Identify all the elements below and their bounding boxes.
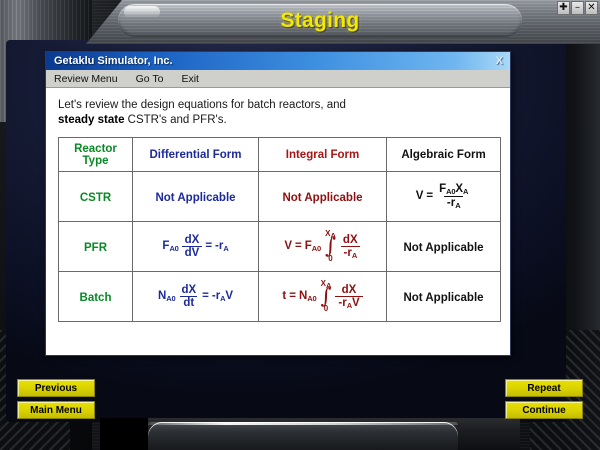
column-header-differential-form: Differential Form xyxy=(133,138,259,172)
intro-bold-phrase: steady state xyxy=(58,114,124,126)
continue-button[interactable]: Continue xyxy=(505,401,583,419)
cell-differential-form: FA0dXdV=-rA xyxy=(133,222,259,272)
menu-bar: Review Menu Go To Exit xyxy=(46,70,510,88)
menu-item-review-menu[interactable]: Review Menu xyxy=(54,73,118,85)
application-root: Staging ✚ – ✕ Getaklu Simulator, Inc. X … xyxy=(0,0,600,450)
cell-algebraic-form: Not Applicable xyxy=(387,222,501,272)
column-header-integral-form: Integral Form xyxy=(259,138,387,172)
window-controls: ✚ – ✕ xyxy=(557,1,598,15)
move-icon[interactable]: ✚ xyxy=(557,1,570,15)
simulator-window: Getaklu Simulator, Inc. X Review Menu Go… xyxy=(45,51,511,356)
table-row: CSTRNot ApplicableNot ApplicableV=FA0XA-… xyxy=(59,172,501,222)
design-equations-table: Reactor Type Differential Form Integral … xyxy=(58,137,501,322)
minimize-icon[interactable]: – xyxy=(571,1,584,15)
table-body: CSTRNot ApplicableNot ApplicableV=FA0XA-… xyxy=(59,172,501,322)
table-header-row: Reactor Type Differential Form Integral … xyxy=(59,138,501,172)
window-close-button[interactable]: X xyxy=(493,55,506,67)
intro-line-1: Let's review the design equations for ba… xyxy=(58,99,346,111)
intro-text: Let's review the design equations for ba… xyxy=(58,98,498,128)
window-body: Let's review the design equations for ba… xyxy=(46,88,510,355)
cell-reactor-type: PFR xyxy=(59,222,133,272)
bottom-notch xyxy=(100,418,148,450)
table-row: BatchNA0dXdt=-rAVt=NA0XA∫0dX-rAVNot Appl… xyxy=(59,272,501,322)
bottom-capsule xyxy=(148,422,458,450)
previous-button[interactable]: Previous xyxy=(17,379,95,397)
table-row: PFRFA0dXdV=-rAV=FA0XA∫0dX-rANot Applicab… xyxy=(59,222,501,272)
cell-differential-form: Not Applicable xyxy=(133,172,259,222)
menu-item-exit[interactable]: Exit xyxy=(181,73,199,85)
close-icon[interactable]: ✕ xyxy=(585,1,598,15)
cell-integral-form: t=NA0XA∫0dX-rAV xyxy=(259,272,387,322)
column-header-reactor-type: Reactor Type xyxy=(59,138,133,172)
page-title: Staging xyxy=(118,5,522,37)
cell-reactor-type: CSTR xyxy=(59,172,133,222)
cell-integral-form: Not Applicable xyxy=(259,172,387,222)
cell-reactor-type: Batch xyxy=(59,272,133,322)
cell-integral-form: V=FA0XA∫0dX-rA xyxy=(259,222,387,272)
column-header-algebraic-form: Algebraic Form xyxy=(387,138,501,172)
window-title: Getaklu Simulator, Inc. xyxy=(54,55,173,67)
main-menu-button[interactable]: Main Menu xyxy=(17,401,95,419)
window-titlebar[interactable]: Getaklu Simulator, Inc. X xyxy=(46,52,510,70)
menu-item-go-to[interactable]: Go To xyxy=(136,73,164,85)
cell-algebraic-form: Not Applicable xyxy=(387,272,501,322)
intro-line-2: CSTR's and PFR's. xyxy=(124,114,226,126)
cell-differential-form: NA0dXdt=-rAV xyxy=(133,272,259,322)
cell-algebraic-form: V=FA0XA-rA xyxy=(387,172,501,222)
repeat-button[interactable]: Repeat xyxy=(505,379,583,397)
